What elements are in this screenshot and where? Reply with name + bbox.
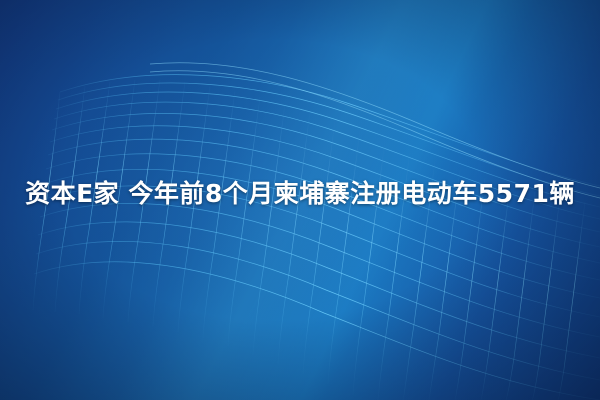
banner: 资本E家 今年前8个月柬埔寨注册电动车5571辆: [0, 0, 600, 400]
banner-title: 资本E家 今年前8个月柬埔寨注册电动车5571辆: [25, 174, 575, 210]
background-vignette: [0, 0, 600, 400]
background-light-sweep: [0, 0, 600, 400]
wireframe-mesh-wave: [0, 0, 600, 400]
title-container: 资本E家 今年前8个月柬埔寨注册电动车5571辆: [0, 168, 600, 216]
